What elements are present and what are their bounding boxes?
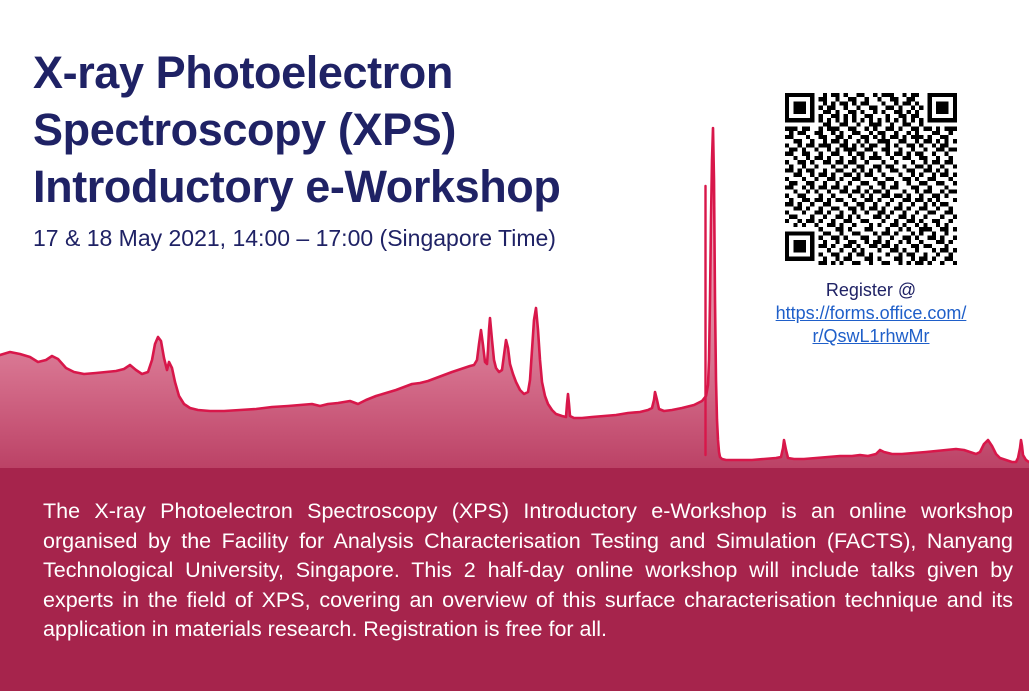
description-paragraph: The X-ray Photoelectron Spectroscopy (XP…	[43, 497, 1013, 645]
qr-code-icon[interactable]	[785, 93, 957, 265]
event-datetime: 17 & 18 May 2021, 14:00 – 17:00 (Singapo…	[33, 224, 733, 253]
header-block: X-ray Photoelectron Spectroscopy (XPS) I…	[33, 44, 733, 253]
registration-url-line1[interactable]: https://forms.office.com/	[757, 302, 985, 325]
poster-canvas: X-ray Photoelectron Spectroscopy (XPS) I…	[0, 0, 1029, 691]
registration-block: Register @ https://forms.office.com/ r/Q…	[757, 93, 985, 348]
register-label: Register @	[757, 279, 985, 302]
page-title: X-ray Photoelectron Spectroscopy (XPS) I…	[33, 44, 733, 215]
registration-url-line2[interactable]: r/QswL1rhwMr	[757, 325, 985, 348]
